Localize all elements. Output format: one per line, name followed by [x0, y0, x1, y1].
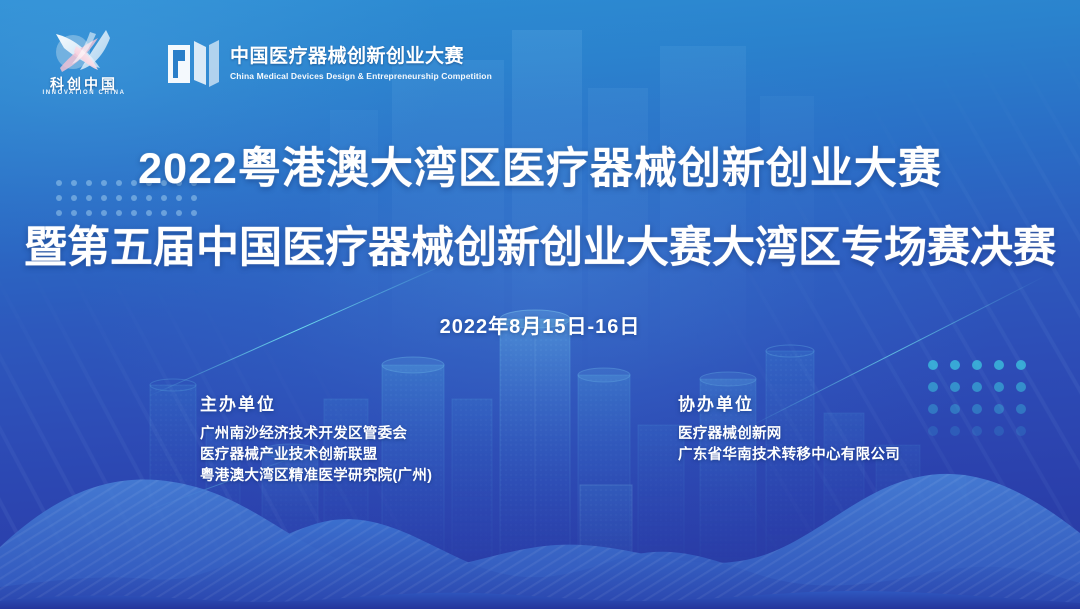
- page-title-line-1: 2022粤港澳大湾区医疗器械创新创业大赛: [0, 134, 1080, 196]
- open-door-mark: [166, 39, 220, 89]
- event-date: 2022年8月15日-16日: [0, 310, 1080, 339]
- cohost-organizers-heading: 协办单位: [678, 390, 900, 415]
- host-organizers-heading: 主办单位: [200, 390, 432, 415]
- event-poster: 科创中国 INNOVATION CHINA 中国医疗器械创新创业大赛 China…: [0, 0, 1080, 609]
- logo-competition: 中国医疗器械创新创业大赛 China Medical Devices Desig…: [166, 39, 492, 89]
- host-organizer-item: 广州南沙经济技术开发区管委会: [200, 424, 432, 445]
- cohost-organizers: 协办单位 医疗器械创新网 广东省华南技术转移中心有限公司: [678, 390, 900, 466]
- host-organizers: 主办单位 广州南沙经济技术开发区管委会 医疗器械产业技术创新联盟 粤港澳大湾区精…: [200, 390, 432, 487]
- logo-innovation-china: 科创中国 INNOVATION CHINA: [38, 26, 130, 102]
- logo-bar: 科创中国 INNOVATION CHINA 中国医疗器械创新创业大赛 China…: [38, 26, 492, 102]
- cohost-organizer-item: 医疗器械创新网: [678, 424, 900, 445]
- host-organizer-item: 粤港澳大湾区精准医学研究院(广州): [200, 466, 432, 487]
- bird-wing-mark: [46, 26, 120, 76]
- logo-competition-en: China Medical Devices Design & Entrepren…: [230, 71, 492, 81]
- cohost-organizer-item: 广东省华南技术转移中心有限公司: [678, 445, 900, 466]
- logo-competition-cn: 中国医疗器械创新创业大赛: [230, 47, 492, 68]
- host-organizer-item: 医疗器械产业技术创新联盟: [200, 445, 432, 466]
- logo-innovation-china-en: INNOVATION CHINA: [38, 90, 130, 96]
- page-title-line-2: 暨第五届中国医疗器械创新创业大赛大湾区专场赛决赛: [0, 213, 1080, 275]
